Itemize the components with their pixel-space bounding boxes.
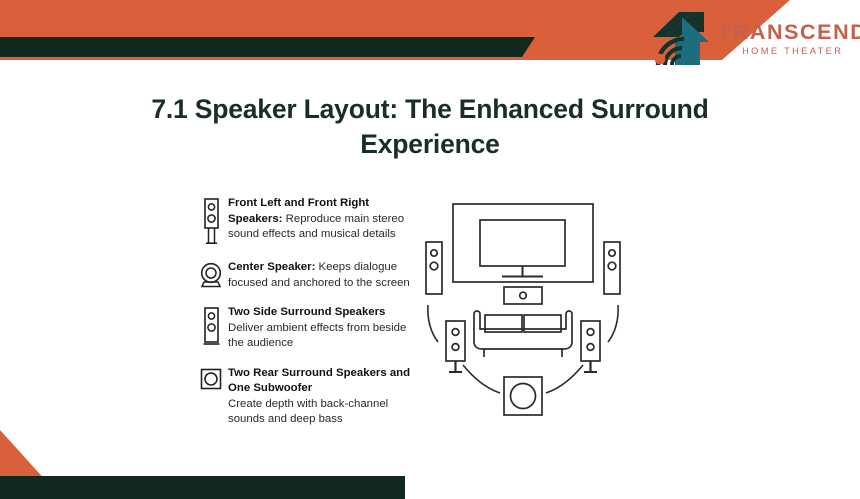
list-item-text: Front Left and Front Right Speakers: Rep… bbox=[224, 196, 413, 243]
list-item-text: Center Speaker: Keeps dialogue focused a… bbox=[224, 260, 413, 291]
list-item: Center Speaker: Keeps dialogue focused a… bbox=[198, 260, 413, 291]
surround-arc-right bbox=[608, 305, 618, 342]
center-speaker-icon bbox=[198, 260, 224, 288]
page-title: 7.1 Speaker Layout: The Enhanced Surroun… bbox=[140, 92, 720, 162]
list-item: Front Left and Front Right Speakers: Rep… bbox=[198, 196, 413, 246]
home-theater-room-layout bbox=[418, 190, 628, 425]
list-item-bold: Two Side Surround Speakers bbox=[228, 306, 385, 318]
television bbox=[480, 220, 565, 266]
speaker-bullet-list: Front Left and Front Right Speakers: Rep… bbox=[198, 196, 413, 428]
side-surround-left-speaker bbox=[446, 321, 465, 372]
side-surround-speaker-icon bbox=[198, 305, 224, 347]
rear-arc-left bbox=[463, 365, 500, 393]
subwoofer-icon bbox=[198, 366, 224, 390]
brand-logo: TRANSCEND HOME THEATER bbox=[652, 7, 832, 69]
logo-brand-name: TRANSCEND bbox=[718, 22, 860, 44]
logo-wordmark: TRANSCEND HOME THEATER bbox=[718, 20, 860, 56]
list-item-detail: Deliver ambient effects from beside the … bbox=[228, 322, 406, 350]
list-item-text: Two Side Surround Speakers Deliver ambie… bbox=[224, 305, 413, 352]
subwoofer bbox=[504, 377, 542, 415]
footer-dark-bar bbox=[0, 476, 405, 499]
list-item-bold: Two Rear Surround Speakers and One Subwo… bbox=[228, 367, 410, 395]
list-item-bold: Center Speaker: bbox=[228, 261, 315, 273]
center-speaker bbox=[504, 287, 542, 304]
list-item: Two Side Surround Speakers Deliver ambie… bbox=[198, 305, 413, 352]
side-surround-right-speaker bbox=[581, 321, 600, 372]
logo-tagline: HOME THEATER bbox=[718, 47, 860, 56]
rear-arc-right bbox=[546, 365, 583, 393]
tower-speaker-icon bbox=[198, 196, 224, 246]
front-left-speaker bbox=[426, 242, 442, 294]
sofa bbox=[474, 311, 572, 357]
slide-root: TRANSCEND HOME THEATER 7.1 Speaker Layou… bbox=[0, 0, 860, 499]
list-item-text: Two Rear Surround Speakers and One Subwo… bbox=[224, 366, 413, 428]
house-wifi-icon bbox=[652, 9, 714, 67]
footer-orange-triangle bbox=[0, 430, 48, 483]
surround-arc-left bbox=[428, 305, 438, 342]
list-item-detail: Create depth with back-channel sounds an… bbox=[228, 398, 388, 426]
header-dark-bar bbox=[0, 37, 535, 57]
list-item: Two Rear Surround Speakers and One Subwo… bbox=[198, 366, 413, 428]
front-right-speaker bbox=[604, 242, 620, 294]
